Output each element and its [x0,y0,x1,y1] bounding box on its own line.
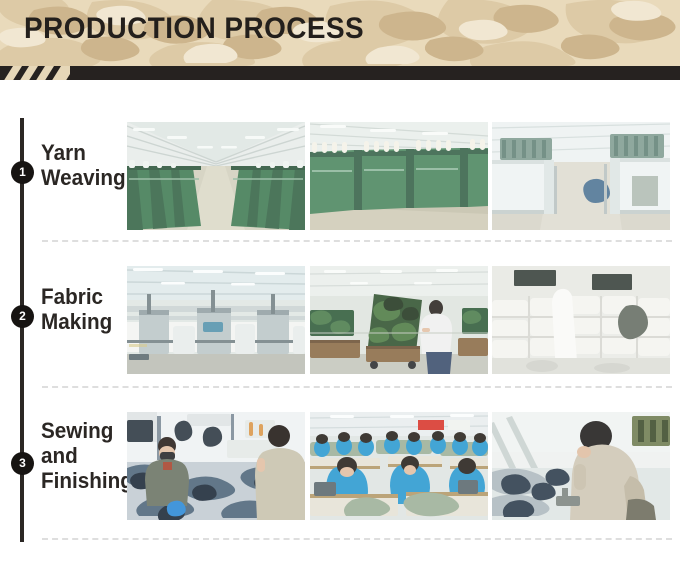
header-banner: PRODUCTION PROCESS [0,0,680,66]
fabric-making-photo-1[interactable] [127,266,305,374]
page-title: PRODUCTION PROCESS [24,12,364,46]
step-number-badge-1: 1 [11,161,34,184]
production-process-infographic: PRODUCTION PROCESS 1 Yarn Weaving [0,0,680,581]
sewing-finishing-photo-3[interactable] [492,412,670,520]
header-accent-bar [0,66,680,80]
fabric-making-photo-3[interactable] [492,266,670,374]
step-label-3: Sewing and Finishing [41,418,133,493]
step-number-badge-3: 3 [11,452,34,475]
sewing-finishing-photo-2[interactable] [310,412,488,520]
step-label-2: Fabric Making [41,284,112,334]
step-divider-3 [42,538,672,540]
yarn-weaving-photo-3[interactable] [492,122,670,230]
fabric-making-photo-2[interactable] [310,266,488,374]
step-label-1: Yarn Weaving [41,140,126,190]
sewing-finishing-photo-1[interactable] [127,412,305,520]
yarn-weaving-photo-1[interactable] [127,122,305,230]
step-divider-1 [42,240,672,242]
step-number-badge-2: 2 [11,305,34,328]
step-divider-2 [42,386,672,388]
diagonal-stripes [0,66,70,80]
yarn-weaving-photo-2[interactable] [310,122,488,230]
